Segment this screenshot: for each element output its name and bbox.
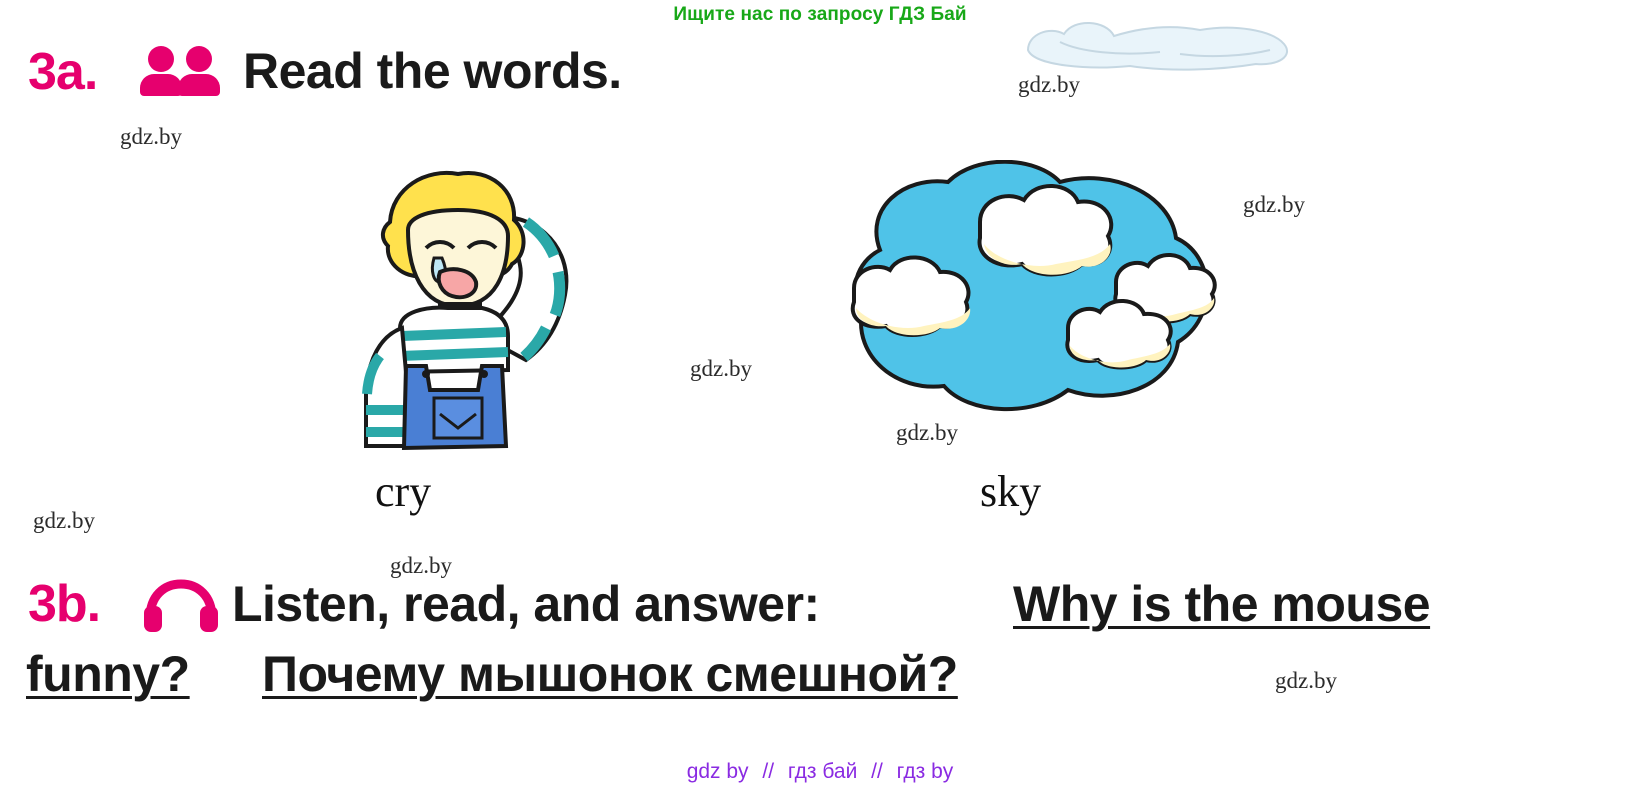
exercise-3b-question-ru: Почему мышонок смешной? [262, 645, 958, 703]
footer-item[interactable]: gdz by [687, 760, 749, 783]
footer-item[interactable]: гдз бай [788, 760, 857, 783]
exercise-number-3a: 3a. [28, 42, 97, 102]
word-label-cry: cry [375, 466, 431, 517]
exercise-3b-question-en-line2: funny? [26, 645, 190, 703]
footer-item[interactable]: гдз by [897, 760, 954, 783]
faint-cloud-decoration [1020, 14, 1300, 74]
exercise-3b-question-en-line1: Why is the mouse [1013, 575, 1430, 633]
exercise-number-3b: 3b. [28, 574, 100, 634]
promo-banner: Ищите нас по запросу ГДЗ Бай [0, 4, 1640, 26]
sky-clouds-picture [820, 160, 1240, 430]
watermark: gdz.by [690, 356, 752, 382]
crying-boy-picture [330, 160, 580, 460]
watermark: gdz.by [1275, 668, 1337, 694]
watermark: gdz.by [896, 420, 958, 446]
footer-separator: // [762, 760, 774, 783]
watermark: gdz.by [1243, 192, 1305, 218]
watermark: gdz.by [1018, 72, 1080, 98]
footer-links: gdz by // гдз бай // гдз by [0, 760, 1640, 784]
two-people-icon [140, 46, 232, 94]
footer-separator: // [871, 760, 883, 783]
watermark: gdz.by [390, 553, 452, 579]
watermark: gdz.by [120, 124, 182, 150]
headphones-icon [142, 578, 220, 632]
word-label-sky: sky [980, 466, 1041, 517]
exercise-3a-heading: Read the words. [243, 42, 622, 100]
watermark: gdz.by [33, 508, 95, 534]
exercise-3b-heading-plain: Listen, read, and answer: [232, 575, 820, 633]
worksheet-page: Ищите нас по запросу ГДЗ Бай 3a. Read th… [0, 0, 1640, 790]
